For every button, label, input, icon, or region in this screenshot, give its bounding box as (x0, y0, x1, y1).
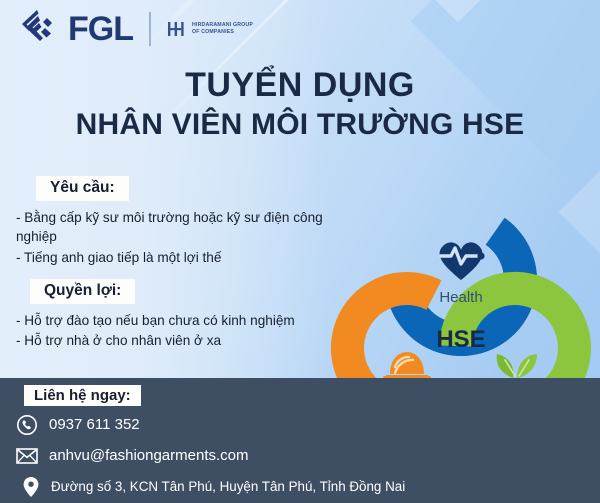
fgl-logo-text: FGL (68, 12, 133, 46)
hse-center-label: HSE (436, 326, 485, 353)
group-name-line2: OF COMPANIES (192, 29, 234, 35)
list-item: - Tiếng anh giao tiếp là một lợi thế (16, 248, 324, 267)
contact-address: Đường số 3, KCN Tân Phú, Huyện Tân Phú, … (51, 480, 405, 495)
contact-address-row[interactable]: Đường số 3, KCN Tân Phú, Huyện Tân Phú, … (20, 476, 592, 498)
contact-footer: Liên hệ ngay: 0937 611 352 (0, 378, 600, 503)
group-name: HIRDARAMANI GROUP OF COMPANIES (192, 22, 253, 36)
requirements-heading-wrap: Yêu cầu: (0, 176, 330, 201)
benefits-list: - Hỗ trợ đào tạo nếu bạn chưa có kinh ng… (0, 311, 330, 351)
group-lockup: HIRDARAMANI GROUP OF COMPANIES (167, 21, 253, 37)
requirements-list: - Bằng cấp kỹ sư môi trường hoặc kỹ sư đ… (0, 208, 330, 267)
leaf-icon (497, 354, 537, 378)
contact-rows: 0937 611 352 anhvu@fashiongarments.com (16, 414, 592, 503)
benefits-heading-wrap: Quyền lợi: (0, 279, 330, 304)
heart-pulse-icon (440, 242, 485, 280)
envelope-icon (16, 445, 38, 467)
recruitment-poster: FGL HIRDARAMANI GROUP OF COMPANIES (0, 0, 600, 503)
requirements-heading: Yêu cầu: (36, 176, 129, 201)
hse-label-health: Health (439, 289, 482, 306)
contact-email-row[interactable]: anhvu@fashiongarments.com (16, 445, 592, 467)
contact-heading: Liên hệ ngay: (24, 385, 141, 406)
hirdaramani-mark-icon (167, 21, 187, 37)
phone-icon (16, 414, 38, 436)
poster-title: TUYỂN DỤNG NHÂN VIÊN MÔI TRƯỜNG HSE (0, 68, 600, 142)
title-line-2: NHÂN VIÊN MÔI TRƯỜNG HSE (0, 108, 600, 143)
location-pin-icon (20, 476, 42, 498)
job-details: Yêu cầu: - Bằng cấp kỹ sư môi trường hoặ… (0, 176, 330, 351)
list-item: - Hỗ trợ nhà ở cho nhân viên ở xa (16, 331, 324, 350)
list-item: - Hỗ trợ đào tạo nếu bạn chưa có kinh ng… (16, 311, 324, 330)
brand-header: FGL HIRDARAMANI GROUP OF COMPANIES (18, 10, 253, 48)
contact-phone-row[interactable]: 0937 611 352 (16, 414, 592, 436)
fgl-logo-mark-icon (18, 10, 58, 48)
benefits-heading: Quyền lợi: (30, 279, 135, 304)
title-line-1: TUYỂN DỤNG (0, 68, 600, 104)
group-name-line1: HIRDARAMANI GROUP (192, 22, 253, 28)
list-item: - Bằng cấp kỹ sư môi trường hoặc kỹ sư đ… (16, 208, 324, 247)
contact-email: anhvu@fashiongarments.com (49, 448, 249, 465)
brand-divider (149, 12, 151, 46)
contact-phone: 0937 611 352 (49, 417, 140, 434)
